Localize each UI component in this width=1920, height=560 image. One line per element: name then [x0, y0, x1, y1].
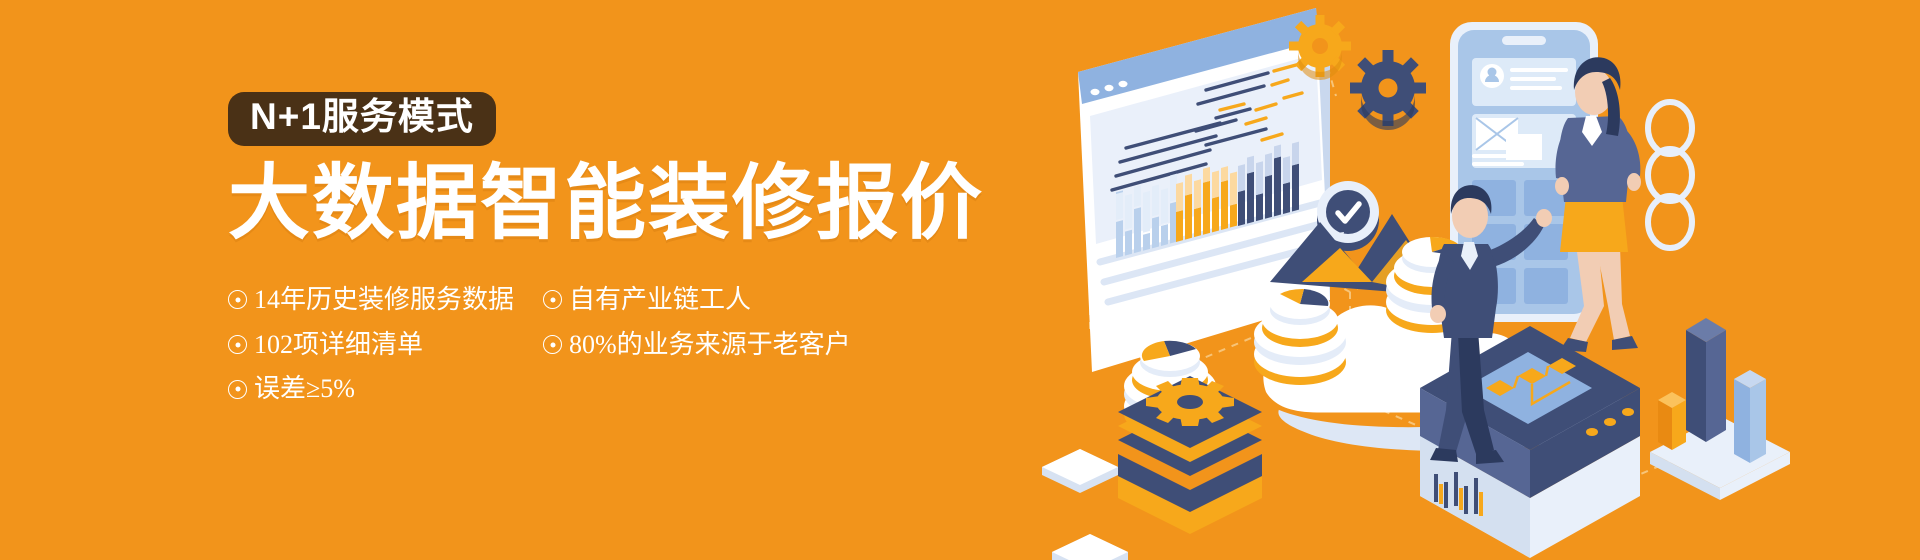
list-item-label: 自有产业链工人 [569, 283, 751, 317]
gear-navy [1350, 50, 1426, 130]
list-item-label: 14年历史装修服务数据 [254, 283, 514, 317]
circled-dot-icon [228, 290, 247, 309]
gear-icon [1146, 378, 1234, 426]
service-mode-badge: N+1服务模式 [228, 92, 496, 146]
list-item: 102项详细清单 [228, 328, 543, 362]
white-tile-left [1042, 449, 1118, 493]
list-item: 14年历史装修服务数据 [228, 283, 543, 317]
promo-banner: N+1服务模式 大数据智能装修报价 14年历史装修服务数据 102项详细清单 误… [0, 0, 1920, 560]
list-item: 自有产业链工人 [543, 283, 948, 317]
isometric-illustration [1020, 0, 1920, 560]
list-item-label: 80%的业务来源于老客户 [569, 328, 851, 362]
list-item-label: 102项详细清单 [254, 328, 423, 362]
list-item-label: 误差≥5% [254, 372, 355, 406]
circled-dot-icon [228, 380, 247, 399]
list-item: 误差≥5% [228, 372, 543, 406]
phone-speaker [1502, 36, 1546, 45]
banner-text-block: N+1服务模式 大数据智能装修报价 14年历史装修服务数据 102项详细清单 误… [228, 92, 948, 406]
list-item: 80%的业务来源于老客户 [543, 328, 948, 362]
circled-dot-icon [543, 290, 562, 309]
white-tile-small [1052, 534, 1128, 560]
ring-stack [1648, 102, 1692, 248]
bar-chart-pillars [1650, 318, 1790, 500]
feature-list: 14年历史装修服务数据 102项详细清单 误差≥5% 自有产业链工人 80%的业… [228, 283, 948, 406]
page-title: 大数据智能装修报价 [228, 163, 948, 245]
circled-dot-icon [543, 335, 562, 354]
circled-dot-icon [228, 335, 247, 354]
